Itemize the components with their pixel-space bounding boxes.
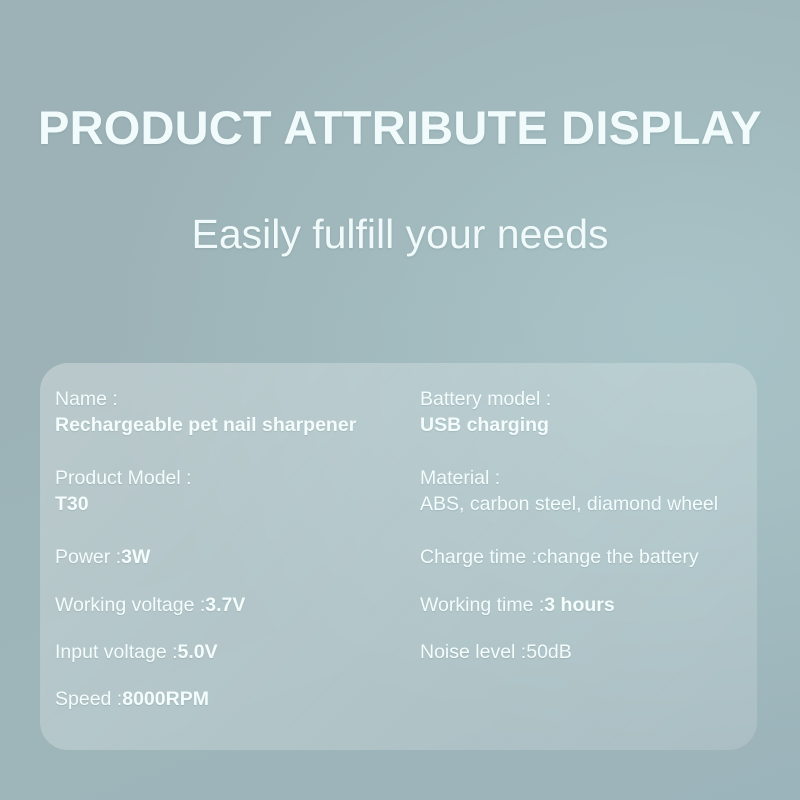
spec-label: Charge time : [420,546,537,568]
spec-label: Product Model : [55,465,415,491]
spec-label: Power : [55,546,121,568]
spec-value: 50dB [526,641,572,663]
page-subtitle: Easily fulfill your needs [0,212,800,257]
spec-row: Name :Rechargeable pet nail sharpener [55,386,415,438]
spec-value: ABS, carbon steel, diamond wheel [420,491,750,517]
spec-row: Speed :8000RPM [55,686,415,712]
spec-label: Speed : [55,688,122,710]
spec-value: 5.0V [178,641,218,663]
spec-row: Working voltage :3.7V [55,592,415,618]
specification-card: Name :Rechargeable pet nail sharpenerPro… [40,363,757,750]
spec-label: Working time : [420,594,544,616]
spec-value: 3 hours [544,594,614,616]
spec-value: change the battery [537,546,699,568]
spec-row: Charge time :change the battery [420,544,750,570]
spec-value: T30 [55,491,415,517]
spec-value: 3.7V [205,594,245,616]
spec-row: Battery model :USB charging [420,386,750,438]
page-title: PRODUCT ATTRIBUTE DISPLAY [0,103,800,152]
spec-label: Name : [55,386,415,412]
spec-value: 8000RPM [122,688,209,710]
spec-value: 3W [121,546,150,568]
spec-column-left: Name :Rechargeable pet nail sharpenerPro… [55,386,415,712]
spec-column-right: Battery model :USB chargingMaterial :ABS… [420,386,750,686]
spec-value: USB charging [420,412,750,438]
spec-row: Working time :3 hours [420,592,750,618]
spec-label: Noise level : [420,641,526,663]
spec-row: Noise level :50dB [420,639,750,665]
spec-row: Material :ABS, carbon steel, diamond whe… [420,465,750,517]
spec-label: Material : [420,465,750,491]
spec-row: Power :3W [55,544,415,570]
spec-value: Rechargeable pet nail sharpener [55,412,415,438]
spec-label: Battery model : [420,386,750,412]
spec-label: Working voltage : [55,594,205,616]
spec-row: Input voltage :5.0V [55,639,415,665]
spec-row: Product Model :T30 [55,465,415,517]
product-attribute-poster: PRODUCT ATTRIBUTE DISPLAY Easily fulfill… [0,0,800,800]
spec-label: Input voltage : [55,641,178,663]
